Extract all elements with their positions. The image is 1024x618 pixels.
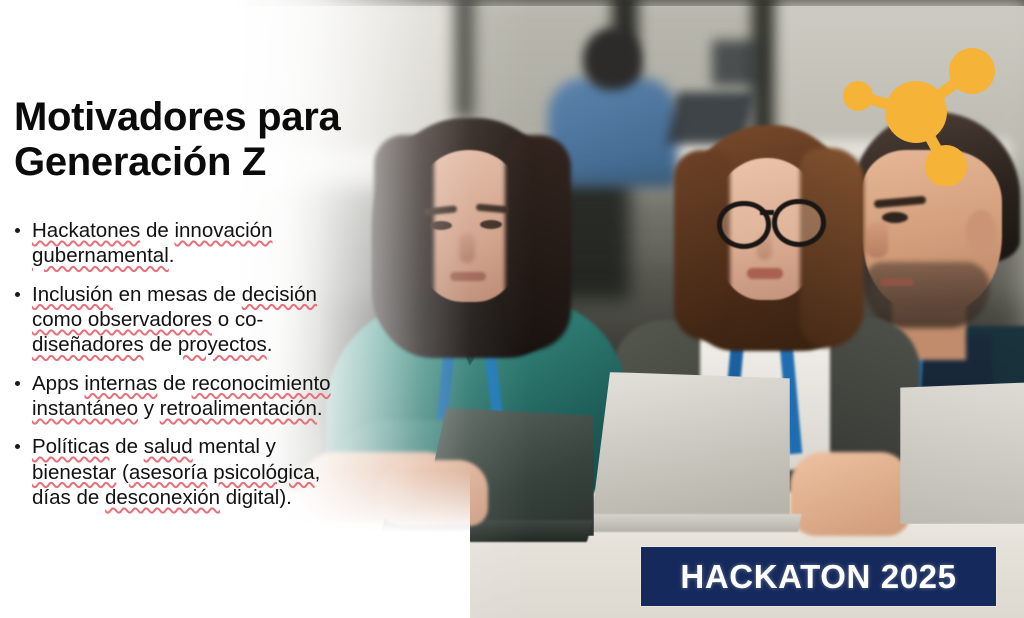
bullet-text-run: .	[267, 333, 273, 356]
spellcheck-flagged-word: desconexión	[105, 486, 220, 509]
spellcheck-flagged-word: salud	[144, 435, 193, 458]
spellcheck-flagged-word: instantáneo	[32, 397, 138, 420]
presentation-slide: Motivadores para Generación Z Hackatones…	[0, 0, 1024, 618]
spellcheck-flagged-word: Políticas	[32, 435, 109, 458]
molecule-node-upper-right	[949, 48, 995, 94]
bullet-text-run: o co-	[212, 308, 263, 331]
spellcheck-flagged-word: decisión	[242, 283, 317, 306]
bullet-text-run: Apps	[32, 372, 84, 395]
bullet-list: Hackatones de innovación gubernamental. …	[10, 218, 340, 523]
spellcheck-flagged-word: diseñadores	[32, 333, 144, 356]
molecule-network-icon	[836, 38, 1004, 186]
spellcheck-flagged-word: innovación	[174, 219, 272, 242]
spellcheck-flagged-word: reconocimiento	[192, 372, 331, 395]
spellcheck-flagged-word: asesoría	[129, 461, 208, 484]
list-item: Políticas de salud mental y bienestar (a…	[10, 434, 340, 510]
bullet-text-run: mental y	[193, 435, 276, 458]
spellcheck-flagged-word: proyectos	[178, 333, 267, 356]
molecule-node-left-small	[843, 81, 873, 111]
bullet-text-run: .	[317, 397, 323, 420]
bullet-text-run: y	[138, 397, 160, 420]
bullet-text-run: .	[169, 244, 175, 267]
bullet-text-run: de	[157, 372, 191, 395]
spellcheck-flagged-word: Inclusión	[32, 283, 113, 306]
bullet-text-run: de	[140, 219, 174, 242]
molecule-node-lower-right	[925, 145, 967, 186]
molecule-network-svg	[836, 38, 1004, 186]
bullet-text-run: en mesas de	[113, 283, 242, 306]
spellcheck-flagged-word: bienestar	[32, 461, 116, 484]
slide-title: Motivadores para Generación Z	[14, 95, 414, 186]
spellcheck-flagged-word: gubernamental	[32, 244, 169, 267]
spellcheck-flagged-word: psicológica	[213, 461, 314, 484]
list-item: Inclusión en mesas de decisión como obse…	[10, 282, 340, 358]
list-item: Apps internas de reconocimiento instantá…	[10, 371, 340, 422]
bullet-text-run: (	[116, 461, 129, 484]
hackaton-banner-label: HACKATON 2025	[680, 558, 956, 596]
bullet-text-run: de	[109, 435, 143, 458]
bullet-text-run: de	[144, 333, 178, 356]
bullet-text-run: digital).	[220, 486, 292, 509]
molecule-nodes	[843, 48, 995, 186]
spellcheck-flagged-word: retroalimentación	[160, 397, 317, 420]
spellcheck-flagged-word: internas	[84, 372, 157, 395]
molecule-node-center	[885, 81, 947, 143]
spellcheck-flagged-word: como observadores	[32, 308, 212, 331]
hackaton-banner: HACKATON 2025	[641, 547, 996, 606]
spellcheck-flagged-word: Hackatones	[32, 219, 140, 242]
list-item: Hackatones de innovación gubernamental.	[10, 218, 340, 269]
